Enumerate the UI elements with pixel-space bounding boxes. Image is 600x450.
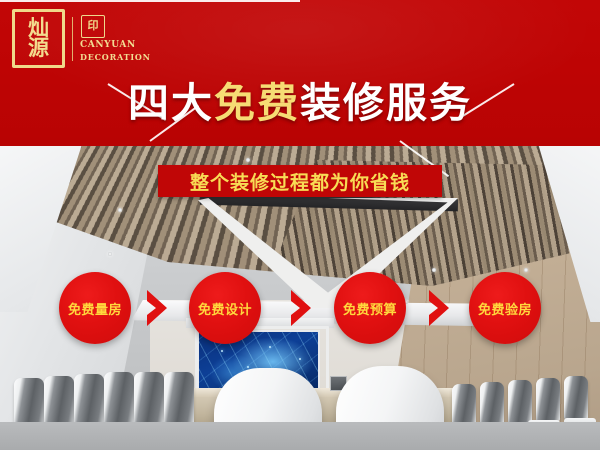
step-arrow-2-icon [288, 288, 314, 328]
step-arrow-3-icon [426, 288, 452, 328]
seal-logo-icon: 灿 源 [12, 9, 65, 68]
step-badge-2[interactable]: 免费设计 [189, 272, 261, 344]
seal-char-2: 源 [28, 39, 49, 59]
chair [480, 382, 504, 426]
step-badge-1-label: 免费量房 [68, 299, 122, 318]
chair [564, 376, 588, 420]
step-badge-1[interactable]: 免费量房 [59, 272, 131, 344]
ceiling-spotlight [246, 158, 250, 162]
chair [536, 378, 560, 422]
step-badge-2-label: 免费设计 [198, 299, 252, 318]
stamp-mark-icon: 印 [81, 15, 105, 38]
headline-wrapper: 四大免费装修服务 [0, 80, 600, 126]
floor [0, 422, 600, 450]
promo-poster: 灿 源 印 CANYUAN DECORATION 四大免费装修服务 整个装修过程… [0, 0, 600, 450]
step-badge-3-label: 免费预算 [343, 299, 397, 318]
step-badge-4[interactable]: 免费验房 [469, 272, 541, 344]
logo-text-block: 印 CANYUAN DECORATION [80, 15, 151, 62]
title-part-1: 四大 [128, 79, 214, 127]
chair [508, 380, 532, 424]
ceiling-spotlight [524, 268, 528, 272]
title-highlight: 免费 [214, 79, 300, 127]
brand-logo: 灿 源 印 CANYUAN DECORATION [12, 9, 151, 68]
ceiling-spotlight [432, 268, 436, 272]
chair [134, 372, 164, 428]
chair [104, 372, 134, 428]
step-arrow-1-icon [144, 288, 170, 328]
logo-english-subtitle: DECORATION [80, 52, 151, 62]
logo-divider [72, 17, 73, 61]
chair [164, 372, 194, 428]
ceiling-spotlight [118, 208, 122, 212]
seal-characters: 灿 源 [28, 19, 49, 58]
subtitle-banner: 整个装修过程都为你省钱 [158, 165, 442, 197]
page-title: 四大免费装修服务 [0, 80, 600, 126]
step-badge-3[interactable]: 免费预算 [334, 272, 406, 344]
logo-english-name: CANYUAN [80, 40, 151, 50]
decor-top-rule [0, 0, 300, 2]
red-header-band: 灿 源 印 CANYUAN DECORATION 四大免费装修服务 [0, 0, 600, 146]
subtitle-text: 整个装修过程都为你省钱 [190, 168, 410, 195]
step-badge-4-label: 免费验房 [478, 299, 532, 318]
ceiling-spotlight [108, 252, 112, 256]
title-part-2: 装修服务 [300, 79, 472, 127]
